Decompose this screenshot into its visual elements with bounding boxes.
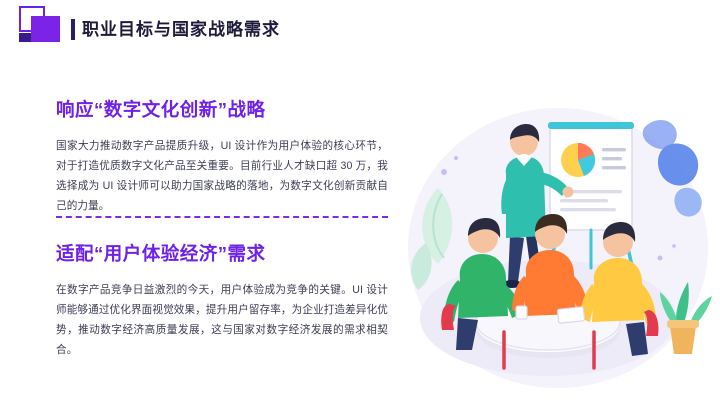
- section-divider: [56, 216, 388, 218]
- slide-header: 职业目标与国家战略需求: [0, 0, 720, 60]
- title-accent-bar: [71, 19, 75, 40]
- team-meeting-illustration: [398, 68, 714, 398]
- section-ux-economy: 适配“用户体验经济”需求 在数字产品竞争日益激烈的今天，用户体验成为竞争的关键。…: [56, 242, 396, 360]
- decor-square-filled-icon: [31, 16, 60, 42]
- section-2-heading: 适配“用户体验经济”需求: [56, 242, 396, 266]
- section-2-body: 在数字产品竞争日益激烈的今天，用户体验成为竞争的关键。UI 设计师能够通过优化界…: [56, 280, 388, 360]
- section-1-body: 国家大力推动数字产品提质升级，UI 设计作为用户体验的核心环节，对于打造优质数字…: [56, 136, 388, 216]
- slide-content: 响应“数字文化创新”战略 国家大力推动数字产品提质升级，UI 设计作为用户体验的…: [0, 60, 720, 405]
- decor-square-small-icon: [19, 33, 31, 42]
- section-1-heading: 响应“数字文化创新”战略: [56, 98, 396, 122]
- section-strategy-response: 响应“数字文化创新”战略 国家大力推动数字产品提质升级，UI 设计作为用户体验的…: [56, 98, 396, 216]
- page-title: 职业目标与国家战略需求: [82, 19, 280, 40]
